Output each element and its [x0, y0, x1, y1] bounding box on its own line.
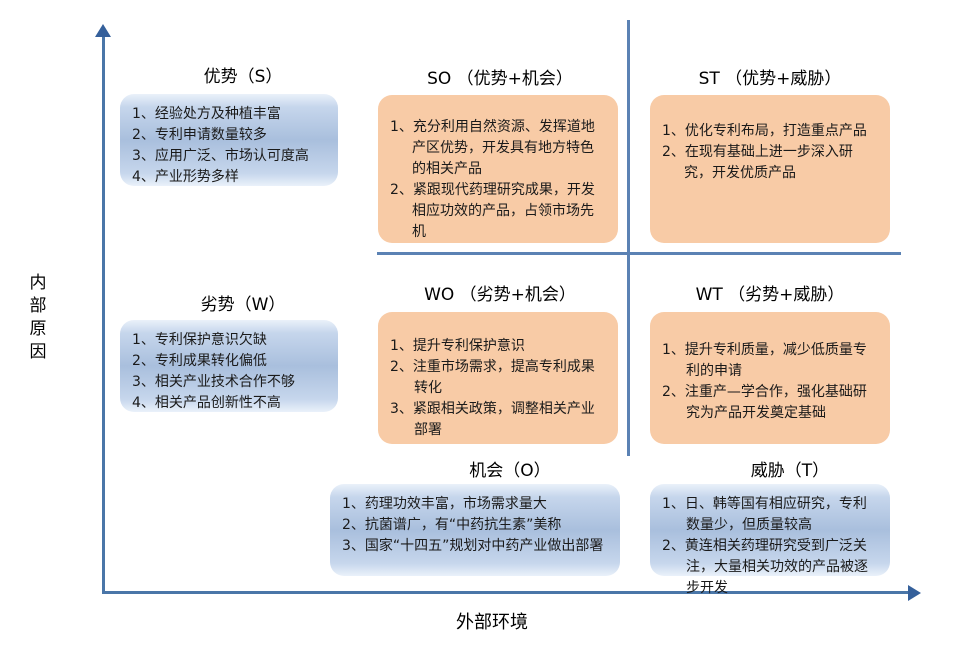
- list-item: 1、提升专利质量，减少低质量专利的申请: [662, 340, 878, 382]
- list-item: 1、优化专利布局，打造重点产品: [662, 121, 878, 142]
- box-strengths: 1、经验处方及种植丰富 2、专利申请数量较多 3、应用广泛、市场认可度高 4、产…: [120, 94, 338, 186]
- list-item: 3、国家“十四五”规划对中药产业做出部署: [342, 536, 608, 557]
- list-item: 4、产业形势多样: [132, 167, 326, 188]
- heading-wo: WO （劣势+机会）: [390, 280, 610, 305]
- arrow-up-icon: [95, 24, 111, 37]
- list-item: 3、相关产业技术合作不够: [132, 372, 326, 393]
- y-axis-label: 内部原因: [26, 272, 50, 364]
- list-item: 2、抗菌谱广，有“中药抗生素”美称: [342, 515, 608, 536]
- list-item: 2、注重市场需求，提高专利成果转化: [390, 357, 606, 399]
- box-weaknesses: 1、专利保护意识欠缺 2、专利成果转化偏低 3、相关产业技术合作不够 4、相关产…: [120, 320, 338, 412]
- box-so: 1、充分利用自然资源、发挥道地产区优势，开发具有地方特色的相关产品 2、紧跟现代…: [378, 95, 618, 243]
- list-item: 4、相关产品创新性不高: [132, 393, 326, 414]
- heading-opportunities: 机会（O）: [390, 456, 630, 481]
- list-item: 1、药理功效丰富，市场需求量大: [342, 494, 608, 515]
- swot-diagram: 内部原因 外部环境 优势（S） 1、经验处方及种植丰富 2、专利申请数量较多 3…: [0, 0, 960, 659]
- x-axis-label: 外部环境: [402, 608, 582, 634]
- quadrant-divider-vertical: [627, 20, 630, 456]
- list-item: 1、专利保护意识欠缺: [132, 330, 326, 351]
- box-wo: 1、提升专利保护意识 2、注重市场需求，提高专利成果转化 3、紧跟相关政策，调整…: [378, 312, 618, 444]
- list-item: 2、专利成果转化偏低: [132, 351, 326, 372]
- heading-weaknesses: 劣势（W）: [138, 290, 348, 315]
- list-item: 2、在现有基础上进一步深入研究，开发优质产品: [662, 142, 878, 184]
- list-item: 2、紧跟现代药理研究成果，开发相应功效的产品，占领市场先机: [390, 180, 606, 243]
- list-item: 1、日、韩等国有相应研究，专利数量少，但质量较高: [662, 494, 878, 536]
- heading-st: ST （优势+威胁）: [660, 64, 880, 89]
- box-opportunities: 1、药理功效丰富，市场需求量大 2、抗菌谱广，有“中药抗生素”美称 3、国家“十…: [330, 484, 620, 576]
- list-item: 1、充分利用自然资源、发挥道地产区优势，开发具有地方特色的相关产品: [390, 117, 606, 180]
- list-item: 3、紧跟相关政策，调整相关产业部署: [390, 399, 606, 441]
- heading-wt: WT （劣势+威胁）: [660, 280, 880, 305]
- list-item: 1、经验处方及种植丰富: [132, 104, 326, 125]
- box-st: 1、优化专利布局，打造重点产品 2、在现有基础上进一步深入研究，开发优质产品: [650, 95, 890, 243]
- box-threats: 1、日、韩等国有相应研究，专利数量少，但质量较高 2、黄连相关药理研究受到广泛关…: [650, 484, 890, 576]
- quadrant-divider-horizontal: [377, 252, 901, 255]
- arrow-right-icon: [908, 585, 921, 601]
- list-item: 1、提升专利保护意识: [390, 336, 606, 357]
- box-wt: 1、提升专利质量，减少低质量专利的申请 2、注重产—学合作，强化基础研究为产品开…: [650, 312, 890, 444]
- heading-so: SO （优势+机会）: [390, 64, 610, 89]
- list-item: 2、专利申请数量较多: [132, 125, 326, 146]
- y-axis-line: [102, 34, 105, 594]
- list-item: 2、注重产—学合作，强化基础研究为产品开发奠定基础: [662, 382, 878, 424]
- list-item: 3、应用广泛、市场认可度高: [132, 146, 326, 167]
- heading-threats: 威胁（T）: [690, 456, 890, 481]
- list-item: 2、黄连相关药理研究受到广泛关注，大量相关功效的产品被逐步开发: [662, 536, 878, 599]
- heading-strengths: 优势（S）: [138, 62, 348, 87]
